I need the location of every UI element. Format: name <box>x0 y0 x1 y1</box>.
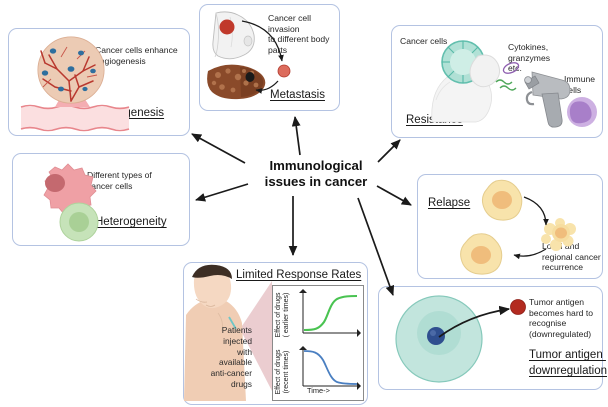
immune-cell-icon <box>567 97 597 127</box>
mask-shield-icon <box>470 55 500 87</box>
teal-cancer-cell-icon <box>396 296 482 382</box>
angiogenesis-illustration <box>9 29 191 137</box>
relapse-illustration <box>418 175 604 280</box>
panel-angiogenesis[interactable]: Cancer cells enhance angiogenesis Angiog… <box>8 28 190 136</box>
metastasis-illustration <box>200 5 341 112</box>
cytokine-particles-icon <box>496 61 520 90</box>
tumor-mass-icon <box>38 37 104 103</box>
liver-metastasis-lesion <box>246 72 255 82</box>
green-cancer-cell-icon <box>60 203 98 241</box>
hub-title: Immunological issues in cancer <box>246 158 386 190</box>
patient-note: Patients injected with available anti-ca… <box>186 325 252 390</box>
panel-heterogeneity[interactable]: Different types of cancer cells Heteroge… <box>12 153 190 246</box>
panel-resistance[interactable]: Cancer cells Cytokines, granzymes etc. I… <box>391 25 603 138</box>
hub-title-line1: Immunological <box>246 158 386 174</box>
shielded-cancer-cell-icon <box>442 41 500 87</box>
arrow-to-heterogeneity <box>196 184 248 200</box>
arrow-to-metastasis <box>295 117 300 155</box>
antigen-illustration <box>379 287 604 391</box>
cell-nucleus <box>427 327 445 345</box>
hub-title-line2: issues in cancer <box>246 174 386 190</box>
relapse-cell-bottom-icon <box>461 234 502 274</box>
primary-tumor-dot <box>220 20 235 35</box>
liver-icon <box>207 65 265 100</box>
panel-tumor-antigen-downregulation[interactable]: Tumor antigen becomes hard to recognise … <box>378 286 603 390</box>
breast-icon <box>213 12 254 59</box>
arrow-cell-to-fragment <box>524 197 546 225</box>
panel-limited-response-rates[interactable]: Patients injected with available anti-ca… <box>183 262 368 405</box>
diagram-canvas: Immunological issues in cancer <box>0 0 608 407</box>
arrow-to-angiogenesis <box>192 134 245 163</box>
tumor-antigen-dot <box>511 300 526 315</box>
panel-relapse[interactable]: Relapse Local and regional cancer recurr… <box>417 174 603 279</box>
panel-metastasis[interactable]: Cancer cell invasion to different body p… <box>199 4 340 111</box>
resistance-illustration <box>392 26 604 139</box>
injector-gun-icon <box>525 72 570 127</box>
heterogeneity-illustration <box>13 154 191 247</box>
relapse-cell-top-icon <box>482 180 521 220</box>
arrow-fragment-to-cell <box>514 249 546 256</box>
